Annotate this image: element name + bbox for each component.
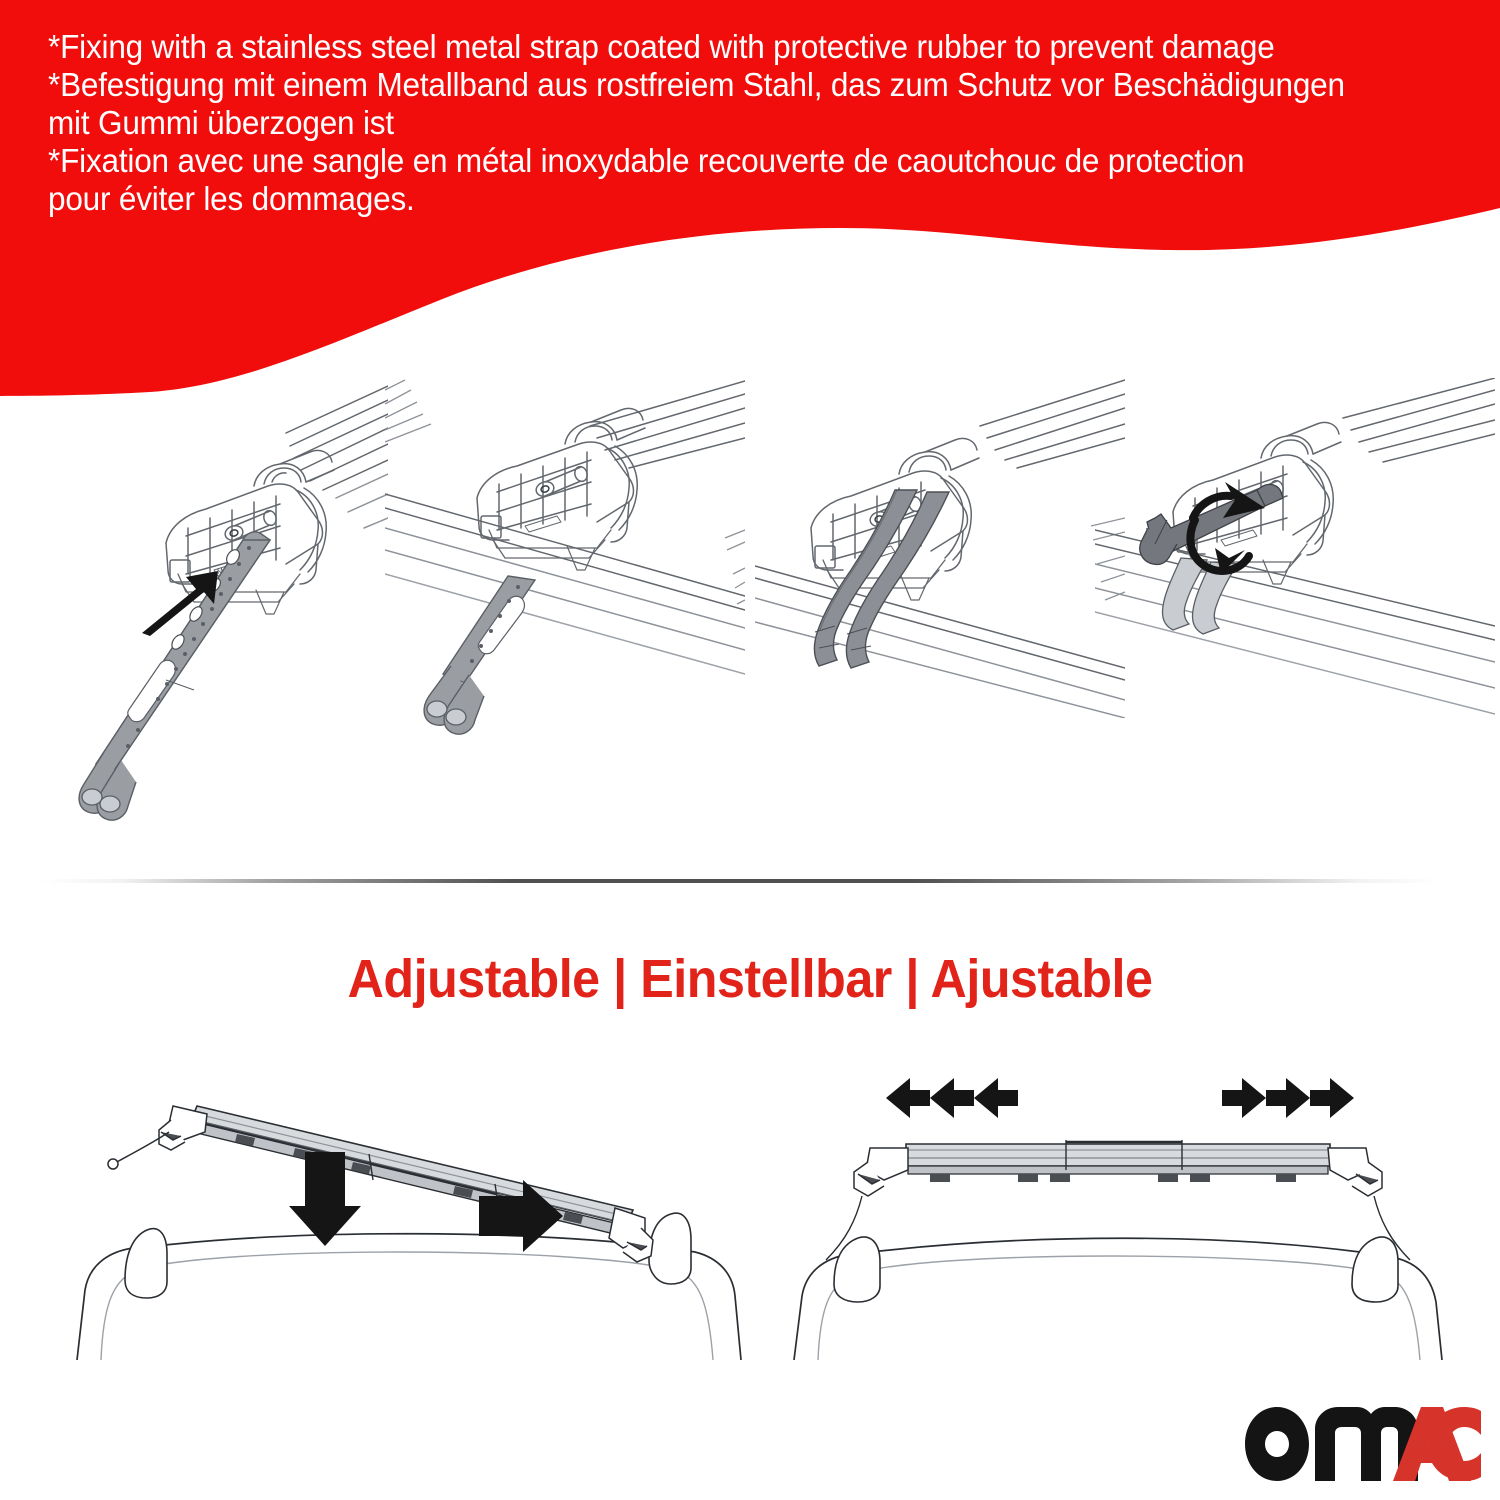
step-1-illustration: MAX 70kg — [18, 378, 388, 828]
step-1-insert-strap: MAX 70kg — [18, 378, 388, 828]
step-3-strap-around-rail — [755, 378, 1125, 718]
installation-steps: MAX 70kg — [0, 378, 1500, 858]
step-2-strap-below-rail — [385, 378, 745, 778]
banner-description: *Fixing with a stainless steel metal str… — [48, 28, 1395, 218]
vehicle-roof-left-illustration — [55, 1070, 755, 1360]
diagram-crossbar-width-adjust — [790, 1070, 1450, 1360]
section-divider — [40, 879, 1440, 883]
diagram-crossbar-lowering — [55, 1070, 755, 1360]
step-2-illustration — [385, 378, 745, 778]
product-infographic-page: *Fixing with a stainless steel metal str… — [0, 0, 1500, 1500]
arrows-right-icon — [1222, 1078, 1354, 1118]
omac-logo-mark — [1243, 1405, 1483, 1483]
adjustability-diagrams — [0, 1070, 1500, 1370]
omac-logo — [1243, 1405, 1483, 1483]
step-4-illustration — [1095, 378, 1495, 718]
vehicle-roof-right-illustration — [790, 1070, 1450, 1360]
step-3-illustration — [755, 378, 1125, 718]
metal-strap-part — [79, 532, 270, 820]
red-banner: *Fixing with a stainless steel metal str… — [0, 0, 1500, 400]
step-4-tighten-bolt — [1095, 378, 1495, 718]
section-title-adjustable: Adjustable | Einstellbar | Ajustable — [53, 948, 1448, 1010]
arrows-left-icon — [886, 1078, 1018, 1118]
logo-letter-o — [1245, 1407, 1309, 1481]
